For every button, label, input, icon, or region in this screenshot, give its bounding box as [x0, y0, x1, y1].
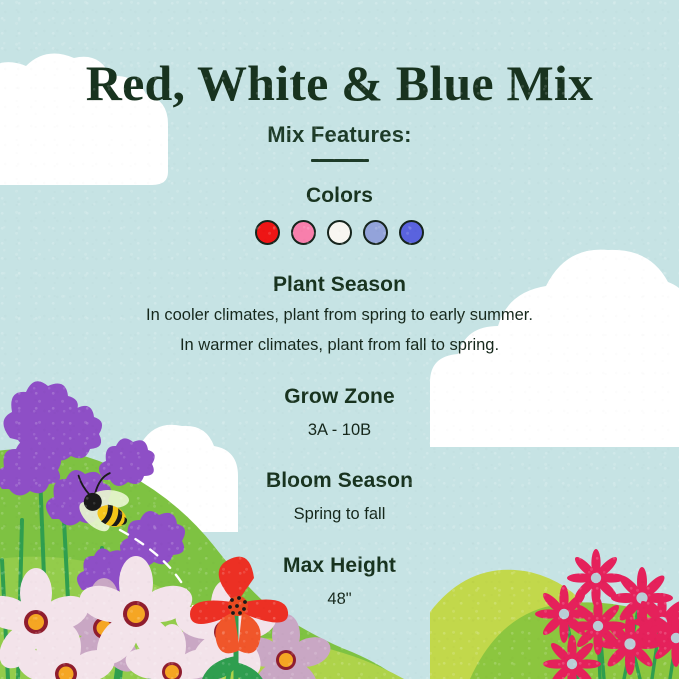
max-height-heading: Max Height [0, 554, 679, 578]
section-plant-season: Plant Season In cooler climates, plant f… [0, 273, 679, 357]
bloom-season-value: Spring to fall [0, 504, 679, 526]
plant-season-heading: Plant Season [0, 273, 679, 297]
section-bloom-season: Bloom Season Spring to fall [0, 469, 679, 526]
plant-season-line-2: In warmer climates, plant from fall to s… [0, 335, 679, 357]
content-block: Red, White & Blue Mix Mix Features: Colo… [0, 0, 679, 611]
grow-zone-heading: Grow Zone [0, 385, 679, 409]
color-swatch-blue [399, 220, 424, 245]
color-swatch-red [255, 220, 280, 245]
divider [311, 159, 369, 162]
section-max-height: Max Height 48" [0, 554, 679, 611]
seed-mix-poster: Red, White & Blue Mix Mix Features: Colo… [0, 0, 679, 679]
color-swatch-light-blue [363, 220, 388, 245]
plant-season-line-1: In cooler climates, plant from spring to… [0, 305, 679, 327]
color-swatch-white [327, 220, 352, 245]
color-swatch-pink [291, 220, 316, 245]
bloom-season-heading: Bloom Season [0, 469, 679, 493]
max-height-value: 48" [0, 589, 679, 611]
section-colors: Colors [0, 184, 679, 245]
page-title: Red, White & Blue Mix [0, 0, 679, 108]
color-swatch-list [0, 220, 679, 245]
section-grow-zone: Grow Zone 3A - 10B [0, 385, 679, 442]
grow-zone-value: 3A - 10B [0, 420, 679, 442]
subtitle: Mix Features: [0, 108, 679, 148]
colors-heading: Colors [0, 184, 679, 208]
